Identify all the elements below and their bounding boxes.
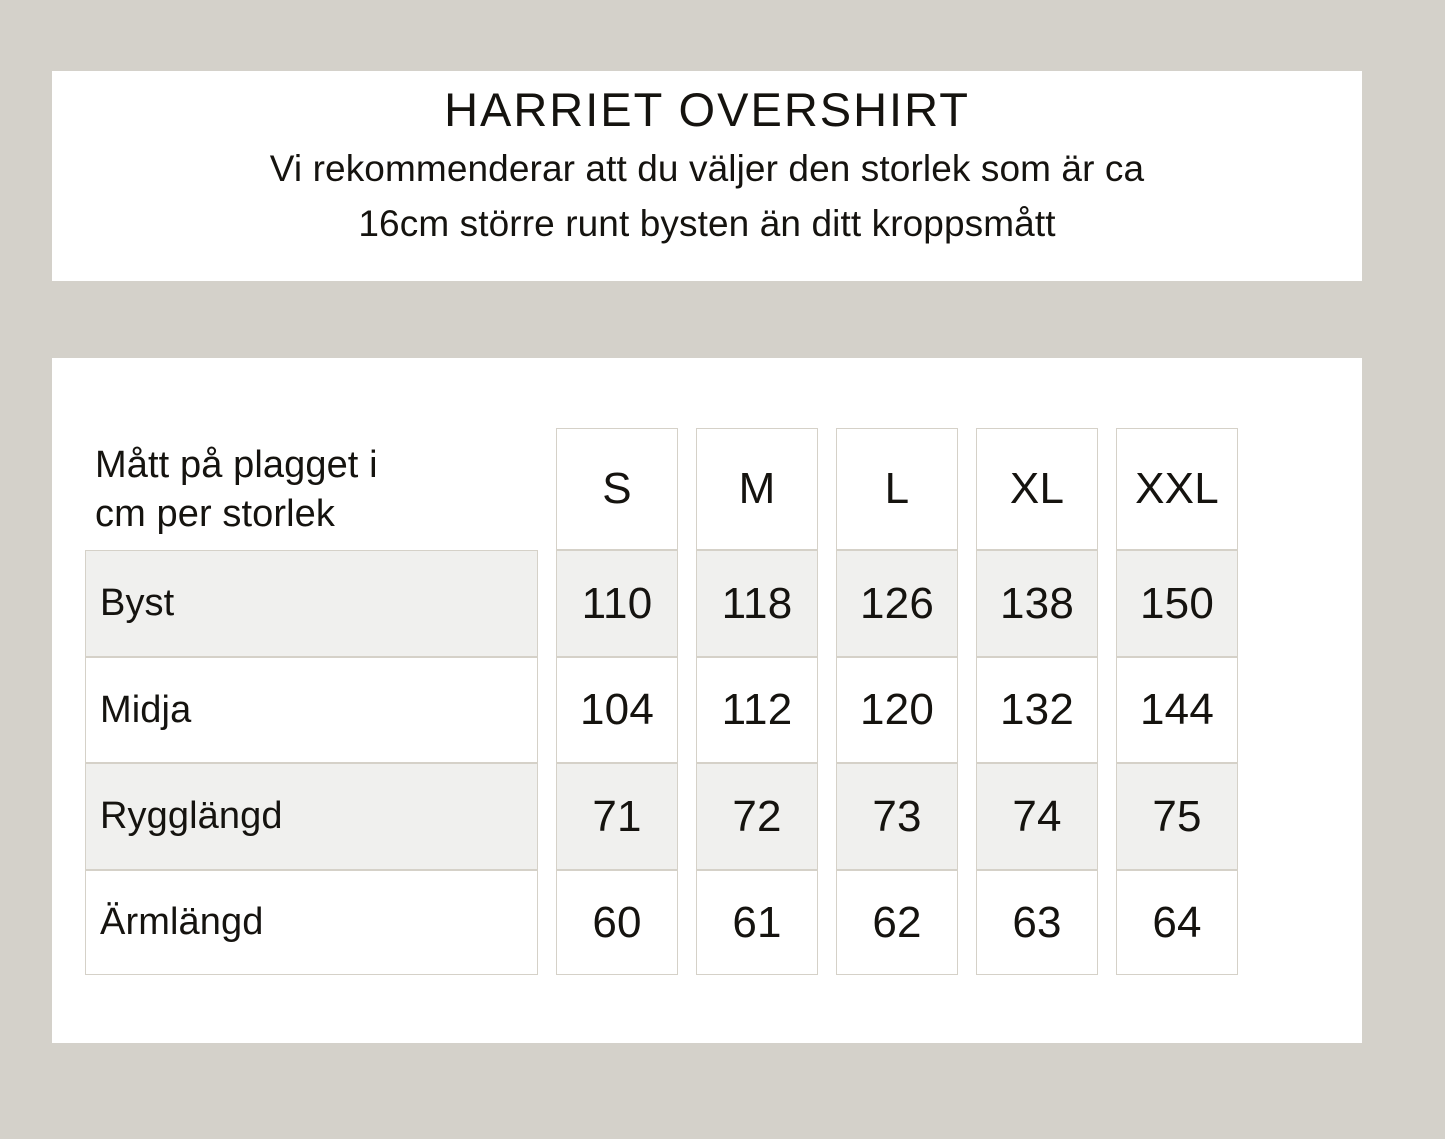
row-label-byst: Byst bbox=[85, 550, 538, 657]
column-gap bbox=[1098, 428, 1116, 550]
cell-midja-s: 104 bbox=[556, 657, 678, 763]
cell-byst-xl: 138 bbox=[976, 550, 1098, 657]
sizing-recommendation: Vi rekommenderar att du väljer den storl… bbox=[270, 142, 1144, 252]
column-gap bbox=[1098, 763, 1116, 870]
column-gap bbox=[538, 657, 556, 763]
cell-midja-m: 112 bbox=[696, 657, 818, 763]
row-label-midja: Midja bbox=[85, 657, 538, 763]
size-chart-grid: Mått på plagget i cm per storlek S M L X… bbox=[85, 428, 1340, 975]
page-title: HARRIET OVERSHIRT bbox=[444, 85, 970, 136]
sizing-recommendation-line-1: Vi rekommenderar att du väljer den storl… bbox=[270, 142, 1144, 197]
column-gap bbox=[678, 657, 696, 763]
cell-armlangd-xxl: 64 bbox=[1116, 870, 1238, 975]
table-corner-label: Mått på plagget i cm per storlek bbox=[85, 428, 538, 550]
cell-armlangd-l: 62 bbox=[836, 870, 958, 975]
column-gap bbox=[1098, 870, 1116, 975]
measurements-card: Mått på plagget i cm per storlek S M L X… bbox=[52, 358, 1362, 1043]
column-gap bbox=[678, 763, 696, 870]
column-gap bbox=[538, 428, 556, 550]
cell-armlangd-s: 60 bbox=[556, 870, 678, 975]
cell-byst-s: 110 bbox=[556, 550, 678, 657]
cell-midja-xl: 132 bbox=[976, 657, 1098, 763]
cell-rygglangd-xxl: 75 bbox=[1116, 763, 1238, 870]
table-corner-label-line-2: cm per storlek bbox=[95, 490, 335, 539]
column-gap bbox=[818, 870, 836, 975]
column-gap bbox=[818, 550, 836, 657]
cell-rygglangd-s: 71 bbox=[556, 763, 678, 870]
cell-byst-m: 118 bbox=[696, 550, 818, 657]
column-header-l: L bbox=[836, 428, 958, 550]
column-gap bbox=[538, 870, 556, 975]
column-gap bbox=[1098, 550, 1116, 657]
row-label-rygglangd: Rygglängd bbox=[85, 763, 538, 870]
column-header-m: M bbox=[696, 428, 818, 550]
row-label-armlangd: Ärmlängd bbox=[85, 870, 538, 975]
header-card: HARRIET OVERSHIRT Vi rekommenderar att d… bbox=[52, 71, 1362, 281]
column-header-xl: XL bbox=[976, 428, 1098, 550]
cell-midja-l: 120 bbox=[836, 657, 958, 763]
sizing-recommendation-line-2: 16cm större runt bysten än ditt kroppsmå… bbox=[358, 197, 1055, 252]
cell-armlangd-xl: 63 bbox=[976, 870, 1098, 975]
column-gap bbox=[818, 657, 836, 763]
cell-rygglangd-l: 73 bbox=[836, 763, 958, 870]
cell-midja-xxl: 144 bbox=[1116, 657, 1238, 763]
column-gap bbox=[1098, 657, 1116, 763]
column-gap bbox=[538, 763, 556, 870]
cell-armlangd-m: 61 bbox=[696, 870, 818, 975]
column-gap bbox=[678, 870, 696, 975]
cell-byst-xxl: 150 bbox=[1116, 550, 1238, 657]
size-chart-table: Mått på plagget i cm per storlek S M L X… bbox=[85, 428, 1340, 975]
column-gap bbox=[958, 657, 976, 763]
column-header-s: S bbox=[556, 428, 678, 550]
column-gap bbox=[958, 428, 976, 550]
column-header-xxl: XXL bbox=[1116, 428, 1238, 550]
table-corner-label-line-1: Mått på plagget i bbox=[95, 441, 378, 490]
column-gap bbox=[958, 550, 976, 657]
column-gap bbox=[958, 763, 976, 870]
column-gap bbox=[958, 870, 976, 975]
column-gap bbox=[818, 428, 836, 550]
cell-rygglangd-xl: 74 bbox=[976, 763, 1098, 870]
column-gap bbox=[678, 550, 696, 657]
cell-byst-l: 126 bbox=[836, 550, 958, 657]
column-gap bbox=[538, 550, 556, 657]
cell-rygglangd-m: 72 bbox=[696, 763, 818, 870]
column-gap bbox=[818, 763, 836, 870]
column-gap bbox=[678, 428, 696, 550]
